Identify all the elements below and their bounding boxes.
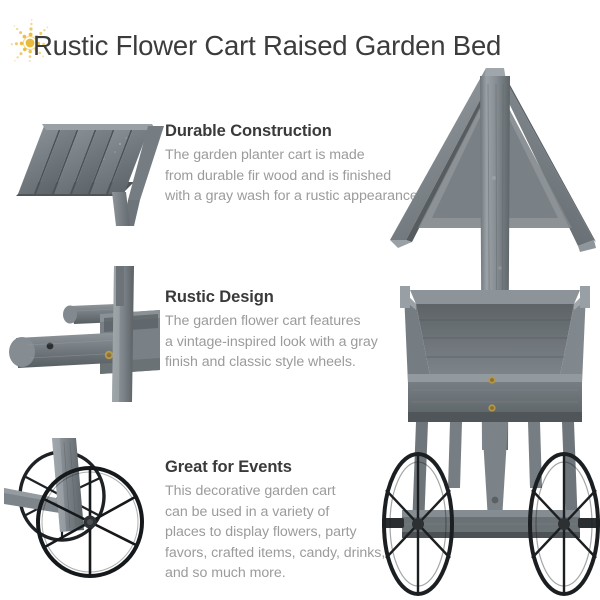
- feature-heading: Rustic Design: [165, 288, 415, 307]
- body-line: with a gray wash for a rustic appearance…: [165, 186, 415, 207]
- feature-body: This decorative garden cart can be used …: [165, 481, 415, 584]
- body-line: from durable fir wood and is finished: [165, 166, 415, 187]
- roof-slats-photo: [8, 104, 164, 226]
- infographic-page: Rustic Flower Cart Raised Garden Bed: [0, 0, 600, 600]
- body-line: finish and classic style wheels.: [165, 352, 415, 373]
- feature-text-rustic-design: Rustic Design The garden flower cart fea…: [165, 288, 415, 373]
- cart-wheels-photo: [4, 438, 164, 590]
- feature-heading: Durable Construction: [165, 122, 415, 141]
- body-line: can be used in a variety of: [165, 502, 415, 523]
- feature-text-durable-construction: Durable Construction The garden planter …: [165, 122, 415, 207]
- feature-heading: Great for Events: [165, 458, 415, 477]
- body-line: This decorative garden cart: [165, 481, 415, 502]
- body-line: a vintage-inspired look with a gray: [165, 332, 415, 353]
- body-line: The garden flower cart features: [165, 311, 415, 332]
- body-line: and so much more.: [165, 563, 415, 584]
- body-line: The garden planter cart is made: [165, 145, 415, 166]
- cart-handles-photo: [8, 266, 164, 402]
- feature-body: The garden flower cart features a vintag…: [165, 311, 415, 373]
- body-line: places to display flowers, party: [165, 522, 415, 543]
- feature-text-great-for-events: Great for Events This decorative garden …: [165, 458, 415, 584]
- rustic-flower-cart-full-view: [382, 58, 600, 598]
- feature-body: The garden planter cart is made from dur…: [165, 145, 415, 207]
- body-line: favors, crafted items, candy, drinks,: [165, 543, 415, 564]
